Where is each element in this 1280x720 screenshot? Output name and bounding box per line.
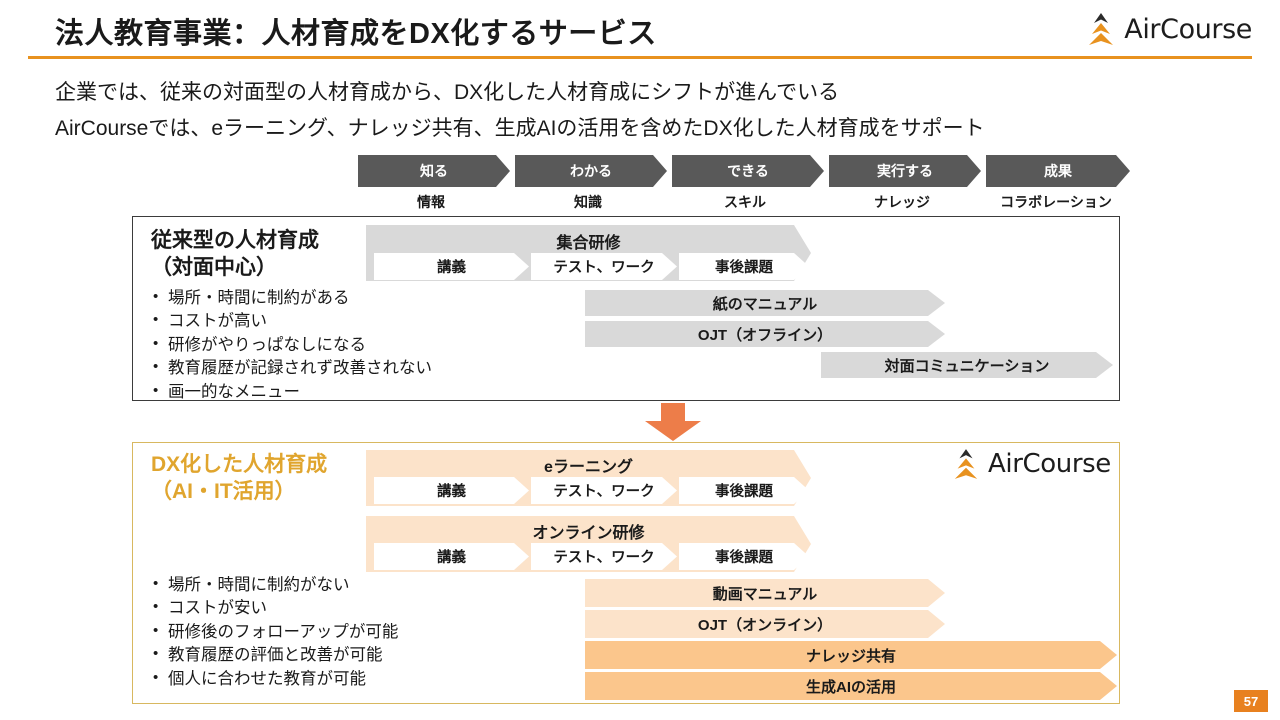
stage-chevron-1: わかる — [515, 155, 667, 187]
dx-elearning-step-2: 事後課題 — [679, 477, 809, 504]
aircourse-logo-icon — [952, 448, 980, 480]
list-item: 場所・時間に制約がない — [151, 574, 398, 597]
down-arrow-icon — [645, 403, 701, 441]
list-item: 個人に合わせた教育が可能 — [151, 668, 398, 691]
stage-label-0: 知る — [420, 161, 448, 181]
stage-sublabel-row: 情報 知識 スキル ナレッジ コラボレーション — [358, 192, 1130, 214]
stage-chevron-2: できる — [672, 155, 824, 187]
brand-logo-dx-panel: AirCourse — [952, 448, 1111, 480]
dx-bar-ojt-online: OJT（オンライン） — [585, 610, 945, 638]
stage-sublabel-3: ナレッジ — [829, 192, 975, 214]
legacy-step-2: 事後課題 — [679, 253, 809, 280]
dx-panel-title: DX化した人材育成 （AI・IT活用） — [151, 451, 327, 506]
legacy-bullet-list: 場所・時間に制約がある コストが高い 研修がやりっぱなしになる 教育履歴が記録さ… — [151, 287, 432, 404]
legacy-bar-face-to-face: 対面コミュニケーション — [821, 352, 1113, 378]
aircourse-logo-icon — [1086, 12, 1116, 46]
dx-online-step-0: 講義 — [374, 543, 529, 570]
legacy-panel-title: 従来型の人材育成 （対面中心） — [151, 227, 319, 282]
dx-panel: DX化した人材育成 （AI・IT活用） 場所・時間に制約がない コストが安い 研… — [132, 442, 1120, 704]
lead-line-1: 企業では、従来の対面型の人材育成から、DX化した人材育成にシフトが進んでいる — [55, 76, 839, 106]
dx-training-band-elearning-label: eラーニング — [366, 453, 811, 477]
list-item: 画一的なメニュー — [151, 381, 432, 404]
stage-label-4: 成果 — [1044, 161, 1072, 181]
list-item: コストが安い — [151, 597, 398, 620]
lead-line-2: AirCourseでは、eラーニング、ナレッジ共有、生成AIの活用を含めたDX化… — [55, 112, 985, 142]
legacy-title-line-2: （対面中心） — [151, 254, 319, 281]
stage-sublabel-1: 知識 — [515, 192, 661, 214]
legacy-step-1: テスト、ワーク — [531, 253, 677, 280]
list-item: 場所・時間に制約がある — [151, 287, 432, 310]
stage-sublabel-2: スキル — [672, 192, 818, 214]
list-item: コストが高い — [151, 310, 432, 333]
stage-chevron-3: 実行する — [829, 155, 981, 187]
dx-elearning-step-0: 講義 — [374, 477, 529, 504]
list-item: 教育履歴の評価と改善が可能 — [151, 644, 398, 667]
stage-label-3: 実行する — [877, 161, 933, 181]
legacy-panel: 従来型の人材育成 （対面中心） 場所・時間に制約がある コストが高い 研修がやり… — [132, 216, 1120, 401]
legacy-bar-ojt-offline: OJT（オフライン） — [585, 321, 945, 347]
list-item: 研修がやりっぱなしになる — [151, 334, 432, 357]
dx-bullet-list: 場所・時間に制約がない コストが安い 研修後のフォローアップが可能 教育履歴の評… — [151, 574, 398, 691]
stage-chevron-0: 知る — [358, 155, 510, 187]
dx-bar-knowledge-sharing: ナレッジ共有 — [585, 641, 1117, 669]
stage-chevron-4: 成果 — [986, 155, 1130, 187]
stage-chevron-row: 知る わかる できる 実行する 成果 — [358, 155, 1130, 187]
list-item: 研修後のフォローアップが可能 — [151, 621, 398, 644]
dx-training-band-online-label: オンライン研修 — [366, 519, 811, 543]
page-number-badge: 57 — [1234, 690, 1268, 712]
dx-elearning-step-1: テスト、ワーク — [531, 477, 677, 504]
dx-bar-video-manual: 動画マニュアル — [585, 579, 945, 607]
page-title: 法人教育事業：人材育成をDX化するサービス — [55, 10, 657, 52]
header-divider — [28, 56, 1252, 59]
brand-name: AirCourse — [1124, 14, 1252, 45]
brand-logo-header: AirCourse — [1086, 12, 1252, 46]
dx-title-line-2: （AI・IT活用） — [151, 478, 327, 505]
legacy-training-band-label: 集合研修 — [366, 229, 811, 253]
list-item: 教育履歴が記録されず改善されない — [151, 357, 432, 380]
stage-label-2: できる — [727, 161, 769, 181]
slide: 法人教育事業：人材育成をDX化するサービス AirCourse 企業では、従来の… — [0, 0, 1280, 720]
legacy-step-0: 講義 — [374, 253, 529, 280]
dx-online-step-2: 事後課題 — [679, 543, 809, 570]
brand-name: AirCourse — [988, 449, 1111, 479]
legacy-title-line-1: 従来型の人材育成 — [151, 227, 319, 254]
stage-label-1: わかる — [570, 161, 612, 181]
legacy-bar-paper-manual: 紙のマニュアル — [585, 290, 945, 316]
stage-sublabel-4: コラボレーション — [982, 192, 1130, 214]
dx-online-step-1: テスト、ワーク — [531, 543, 677, 570]
dx-title-line-1: DX化した人材育成 — [151, 451, 327, 478]
dx-bar-generative-ai: 生成AIの活用 — [585, 672, 1117, 700]
stage-sublabel-0: 情報 — [358, 192, 504, 214]
